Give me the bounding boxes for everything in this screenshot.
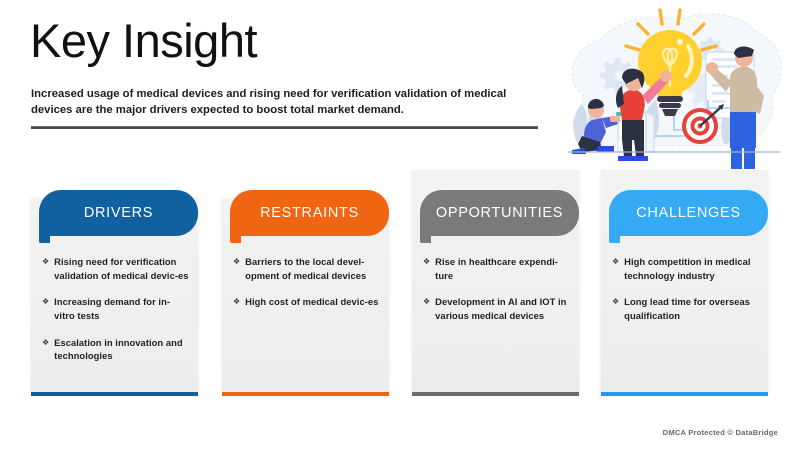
card-accent-bar — [222, 392, 389, 396]
card-title: DRIVERS — [84, 205, 153, 221]
card-bullet-list: ❖ High competition in medical technology… — [612, 255, 759, 336]
list-item: ❖ High competition in medical technology… — [612, 255, 759, 282]
list-item: ❖ Barriers to the local devel-opment of … — [233, 255, 380, 282]
list-item: ❖ Rising need for verification validatio… — [42, 255, 189, 282]
card-header-drivers[interactable]: DRIVERS — [39, 190, 198, 236]
list-item-text: Increasing demand for in-vitro tests — [54, 295, 189, 322]
list-item-text: Development in AI and IOT in various med… — [435, 295, 570, 322]
diamond-bullet-icon: ❖ — [612, 255, 619, 268]
card-title: OPPORTUNITIES — [436, 205, 563, 221]
card-accent-bar — [601, 392, 768, 396]
diamond-bullet-icon: ❖ — [42, 336, 49, 349]
diamond-bullet-icon: ❖ — [423, 255, 430, 268]
list-item: ❖ Long lead time for overseas qualificat… — [612, 295, 759, 322]
card-header-challenges[interactable]: CHALLENGES — [609, 190, 768, 236]
diamond-bullet-icon: ❖ — [233, 255, 240, 268]
diamond-bullet-icon: ❖ — [42, 295, 49, 308]
card-bullet-list: ❖ Rise in healthcare expendi-ture ❖ Deve… — [423, 255, 570, 336]
card-title: CHALLENGES — [636, 205, 741, 221]
diamond-bullet-icon: ❖ — [42, 255, 49, 268]
list-item-text: Escalation in innovation and technologie… — [54, 336, 189, 363]
card-header-restraints[interactable]: RESTRAINTS — [230, 190, 389, 236]
list-item-text: Barriers to the local devel-opment of me… — [245, 255, 380, 282]
list-item: ❖ Increasing demand for in-vitro tests — [42, 295, 189, 322]
list-item: ❖ Development in AI and IOT in various m… — [423, 295, 570, 322]
list-item: ❖ Rise in healthcare expendi-ture — [423, 255, 570, 282]
card-title: RESTRAINTS — [260, 205, 359, 221]
list-item: ❖ High cost of medical devic-es — [233, 295, 380, 309]
list-item-text: Rise in healthcare expendi-ture — [435, 255, 570, 282]
list-item-text: High competition in medical technology i… — [624, 255, 759, 282]
diamond-bullet-icon: ❖ — [612, 295, 619, 308]
list-item-text: Long lead time for overseas qualificatio… — [624, 295, 759, 322]
list-item-text: Rising need for verification validation … — [54, 255, 189, 282]
list-item: ❖ Escalation in innovation and technolog… — [42, 336, 189, 363]
diamond-bullet-icon: ❖ — [233, 295, 240, 308]
diamond-bullet-icon: ❖ — [423, 295, 430, 308]
card-header-opportunities[interactable]: OPPORTUNITIES — [420, 190, 579, 236]
card-accent-bar — [412, 392, 579, 396]
card-bullet-list: ❖ Barriers to the local devel-opment of … — [233, 255, 380, 322]
list-item-text: High cost of medical devic-es — [245, 295, 378, 309]
page-title: Key Insight — [30, 16, 257, 65]
card-bullet-list: ❖ Rising need for verification validatio… — [42, 255, 189, 376]
idea-teamwork-lightbulb-illustration — [548, 4, 798, 169]
card-accent-bar — [31, 392, 198, 396]
footer-copyright: DMCA Protected © DataBridge — [663, 428, 778, 437]
page-subtitle: Increased usage of medical devices and r… — [31, 86, 536, 119]
title-divider — [31, 126, 538, 129]
